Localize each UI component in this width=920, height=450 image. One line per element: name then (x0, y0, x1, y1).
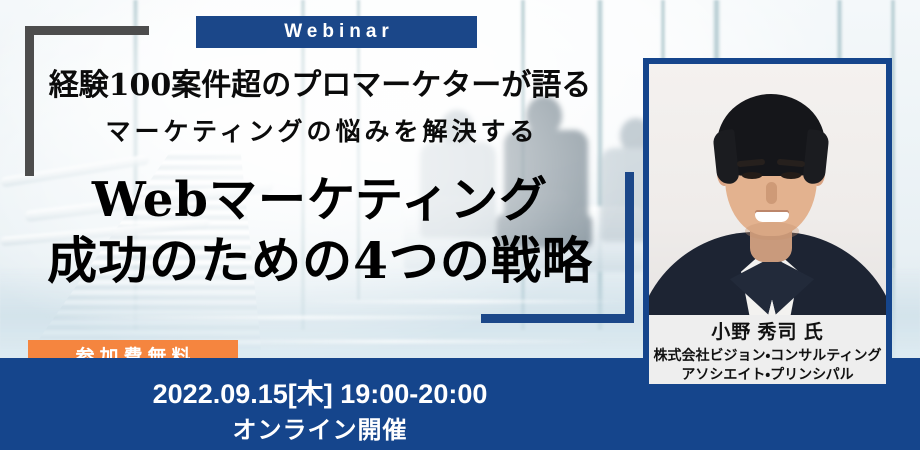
portrait-chin (745, 222, 799, 240)
event-datetime: 2022.09.15[木] 19:00-20:00 (0, 372, 640, 411)
portrait-nose (766, 182, 777, 204)
speaker-photo (649, 64, 886, 315)
webinar-tag: Webinar (196, 16, 477, 48)
portrait-mouth (755, 212, 789, 222)
main-title-line-1: Webマーケティング (0, 176, 640, 224)
webinar-banner: Webinar 経験100案件超のプロマーケターが語る マーケティングの悩みを解… (0, 0, 920, 450)
event-format: オンライン開催 (0, 410, 640, 445)
subtitle-line-2: マーケティングの悩みを解決する (0, 112, 640, 148)
speaker-caption: 小野 秀司 氏 株式会社ビジョン・コンサルティング アソシエイト・プリンシパル (649, 315, 886, 384)
main-title-line-2: 成功のための4つの戦略 (0, 236, 640, 286)
subtitle-line-1: 経験100案件超のプロマーケターが語る (0, 60, 640, 104)
portrait-eye-left (742, 172, 762, 179)
speaker-role: アソシエイト・プリンシパル (649, 365, 886, 384)
portrait-eye-right (781, 172, 801, 179)
speaker-company: 株式会社ビジョン・コンサルティング (649, 346, 886, 365)
speaker-name: 小野 秀司 氏 (649, 321, 886, 345)
